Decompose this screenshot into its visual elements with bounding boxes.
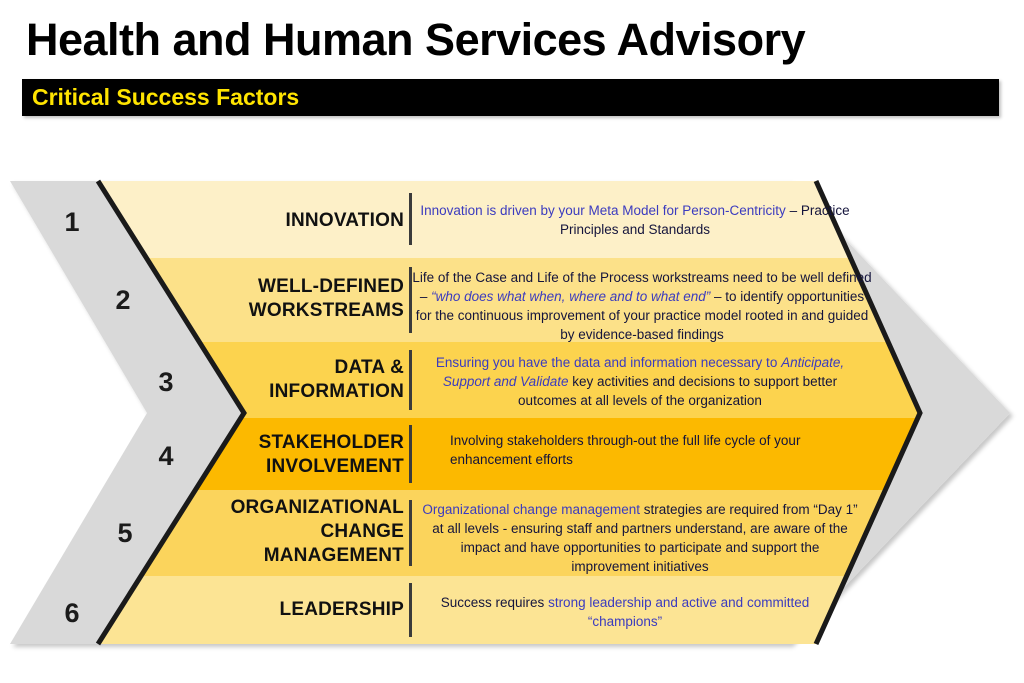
row-label-line: INFORMATION <box>269 381 404 402</box>
row-number: 6 <box>52 598 92 629</box>
row-description: Involving stakeholders through-out the f… <box>450 431 850 469</box>
process-row[interactable]: 3 DATA &INFORMATION Ensuring you have th… <box>0 342 1024 418</box>
row-description: Life of the Case and Life of the Process… <box>412 268 872 344</box>
row-divider <box>409 500 412 566</box>
row-divider <box>409 583 412 637</box>
row-divider <box>409 193 412 245</box>
row-description: Organizational change management strateg… <box>420 500 860 576</box>
row-number: 1 <box>52 207 92 238</box>
row-label-line: INVOLVEMENT <box>266 456 404 477</box>
row-divider <box>409 350 412 410</box>
desc-segment: Involving stakeholders through-out the f… <box>450 433 800 467</box>
desc-segment: strong leadership and active and committ… <box>548 595 809 629</box>
row-description: Ensuring you have the data and informati… <box>420 353 860 410</box>
desc-segment: Organizational change management <box>422 502 640 517</box>
desc-segment: Success requires <box>441 595 548 610</box>
chevron-process-diagram: 1 INNOVATION Innovation is driven by you… <box>0 0 1024 683</box>
row-label: ORGANIZATIONALCHANGEMANAGEMENT <box>104 496 404 568</box>
row-label-line: DATA & <box>335 357 404 378</box>
row-label: WELL-DEFINEDWORKSTREAMS <box>104 275 404 323</box>
row-label: STAKEHOLDERINVOLVEMENT <box>104 431 404 479</box>
row-description: Innovation is driven by your Meta Model … <box>420 201 850 239</box>
process-rows: 1 INNOVATION Innovation is driven by you… <box>0 181 1024 644</box>
row-label: DATA &INFORMATION <box>104 356 404 404</box>
row-label: LEADERSHIP <box>104 598 404 622</box>
desc-segment: Innovation is driven by your Meta Model … <box>420 203 785 218</box>
row-divider <box>409 425 412 483</box>
row-label-line: MANAGEMENT <box>264 545 404 566</box>
process-row[interactable]: 1 INNOVATION Innovation is driven by you… <box>0 181 1024 258</box>
row-description: Success requires strong leadership and a… <box>425 593 825 631</box>
desc-segment: Ensuring you have the data and informati… <box>436 355 781 370</box>
process-row[interactable]: 4 STAKEHOLDERINVOLVEMENT Involving stake… <box>0 418 1024 490</box>
row-label-line: STAKEHOLDER <box>259 432 404 453</box>
process-row[interactable]: 6 LEADERSHIP Success requires strong lea… <box>0 576 1024 644</box>
process-row[interactable]: 5 ORGANIZATIONALCHANGEMANAGEMENT Organiz… <box>0 490 1024 576</box>
desc-segment: “who does what when, where and to what e… <box>431 289 710 304</box>
row-label: INNOVATION <box>104 209 404 233</box>
row-label-line: ORGANIZATIONAL <box>231 497 404 518</box>
row-label-line: WORKSTREAMS <box>249 300 404 321</box>
row-label-line: CHANGE <box>320 521 404 542</box>
row-label-line: WELL-DEFINED <box>258 276 404 297</box>
process-row[interactable]: 2 WELL-DEFINEDWORKSTREAMS Life of the Ca… <box>0 258 1024 342</box>
